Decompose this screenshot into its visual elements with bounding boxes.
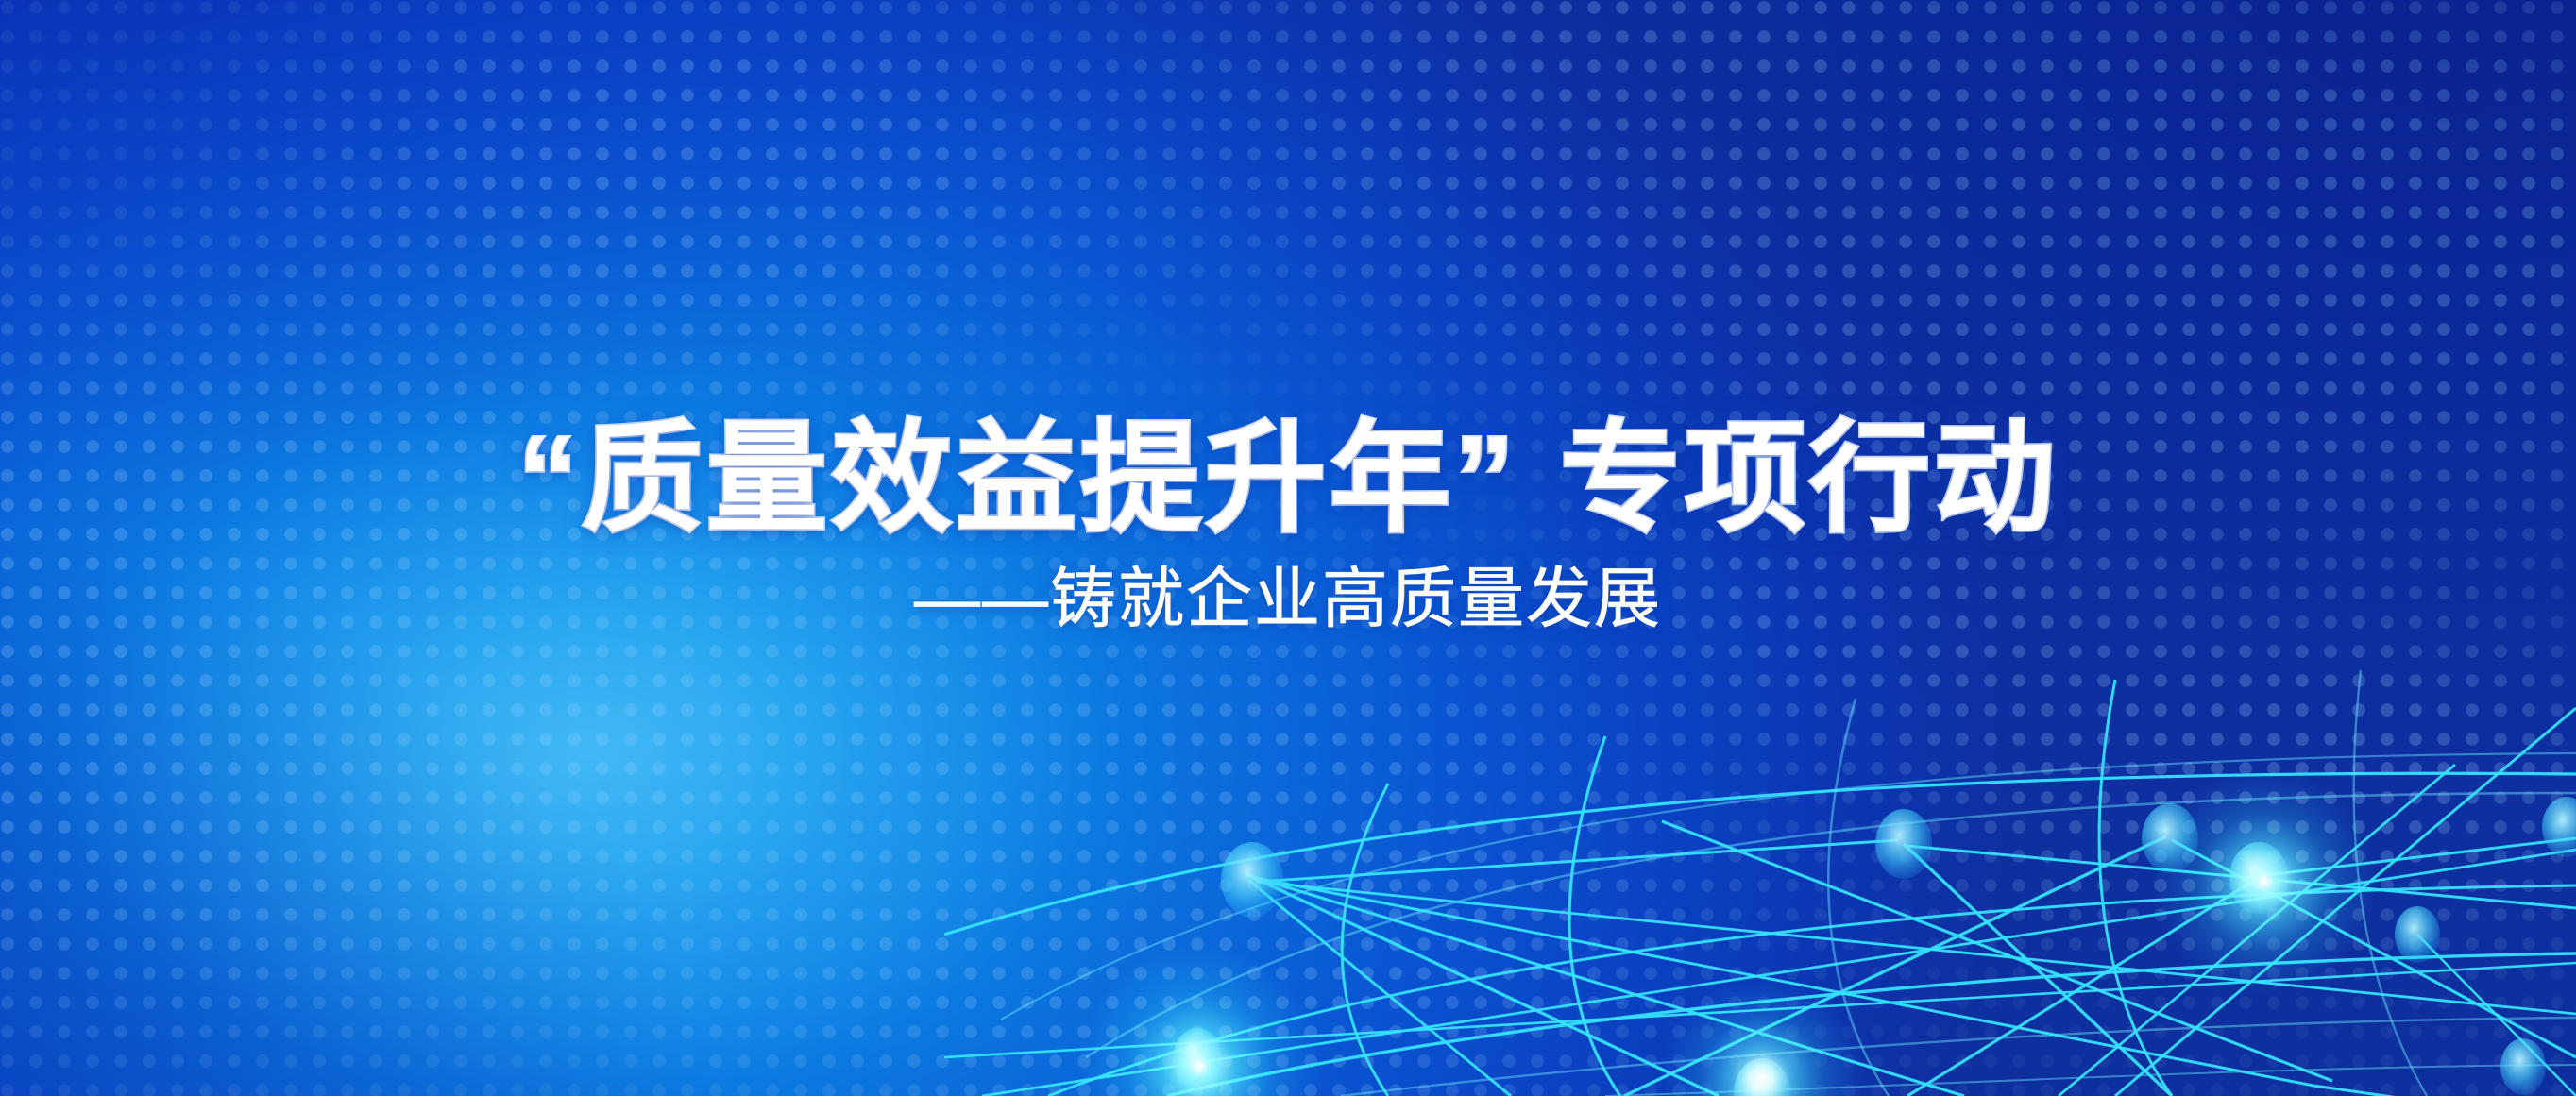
page-subtitle: ——铸就企业高质量发展 [0, 563, 2576, 635]
title-quoted-phrase: 质量效益提升年 [582, 412, 1454, 547]
title-open-quote: “ [517, 412, 582, 547]
globe-glow-flares [1076, 768, 2378, 1096]
banner-text-block: “质量效益提升年”专项行动 ——铸就企业高质量发展 [0, 415, 2576, 635]
title-action-phrase: 专项行动 [1560, 412, 2059, 547]
promotional-banner: “质量效益提升年”专项行动 ——铸就企业高质量发展 [0, 0, 2576, 1096]
page-title: “质量效益提升年”专项行动 [0, 415, 2576, 544]
network-globe-graphic [944, 651, 2576, 1096]
title-close-quote: ” [1454, 412, 1518, 547]
